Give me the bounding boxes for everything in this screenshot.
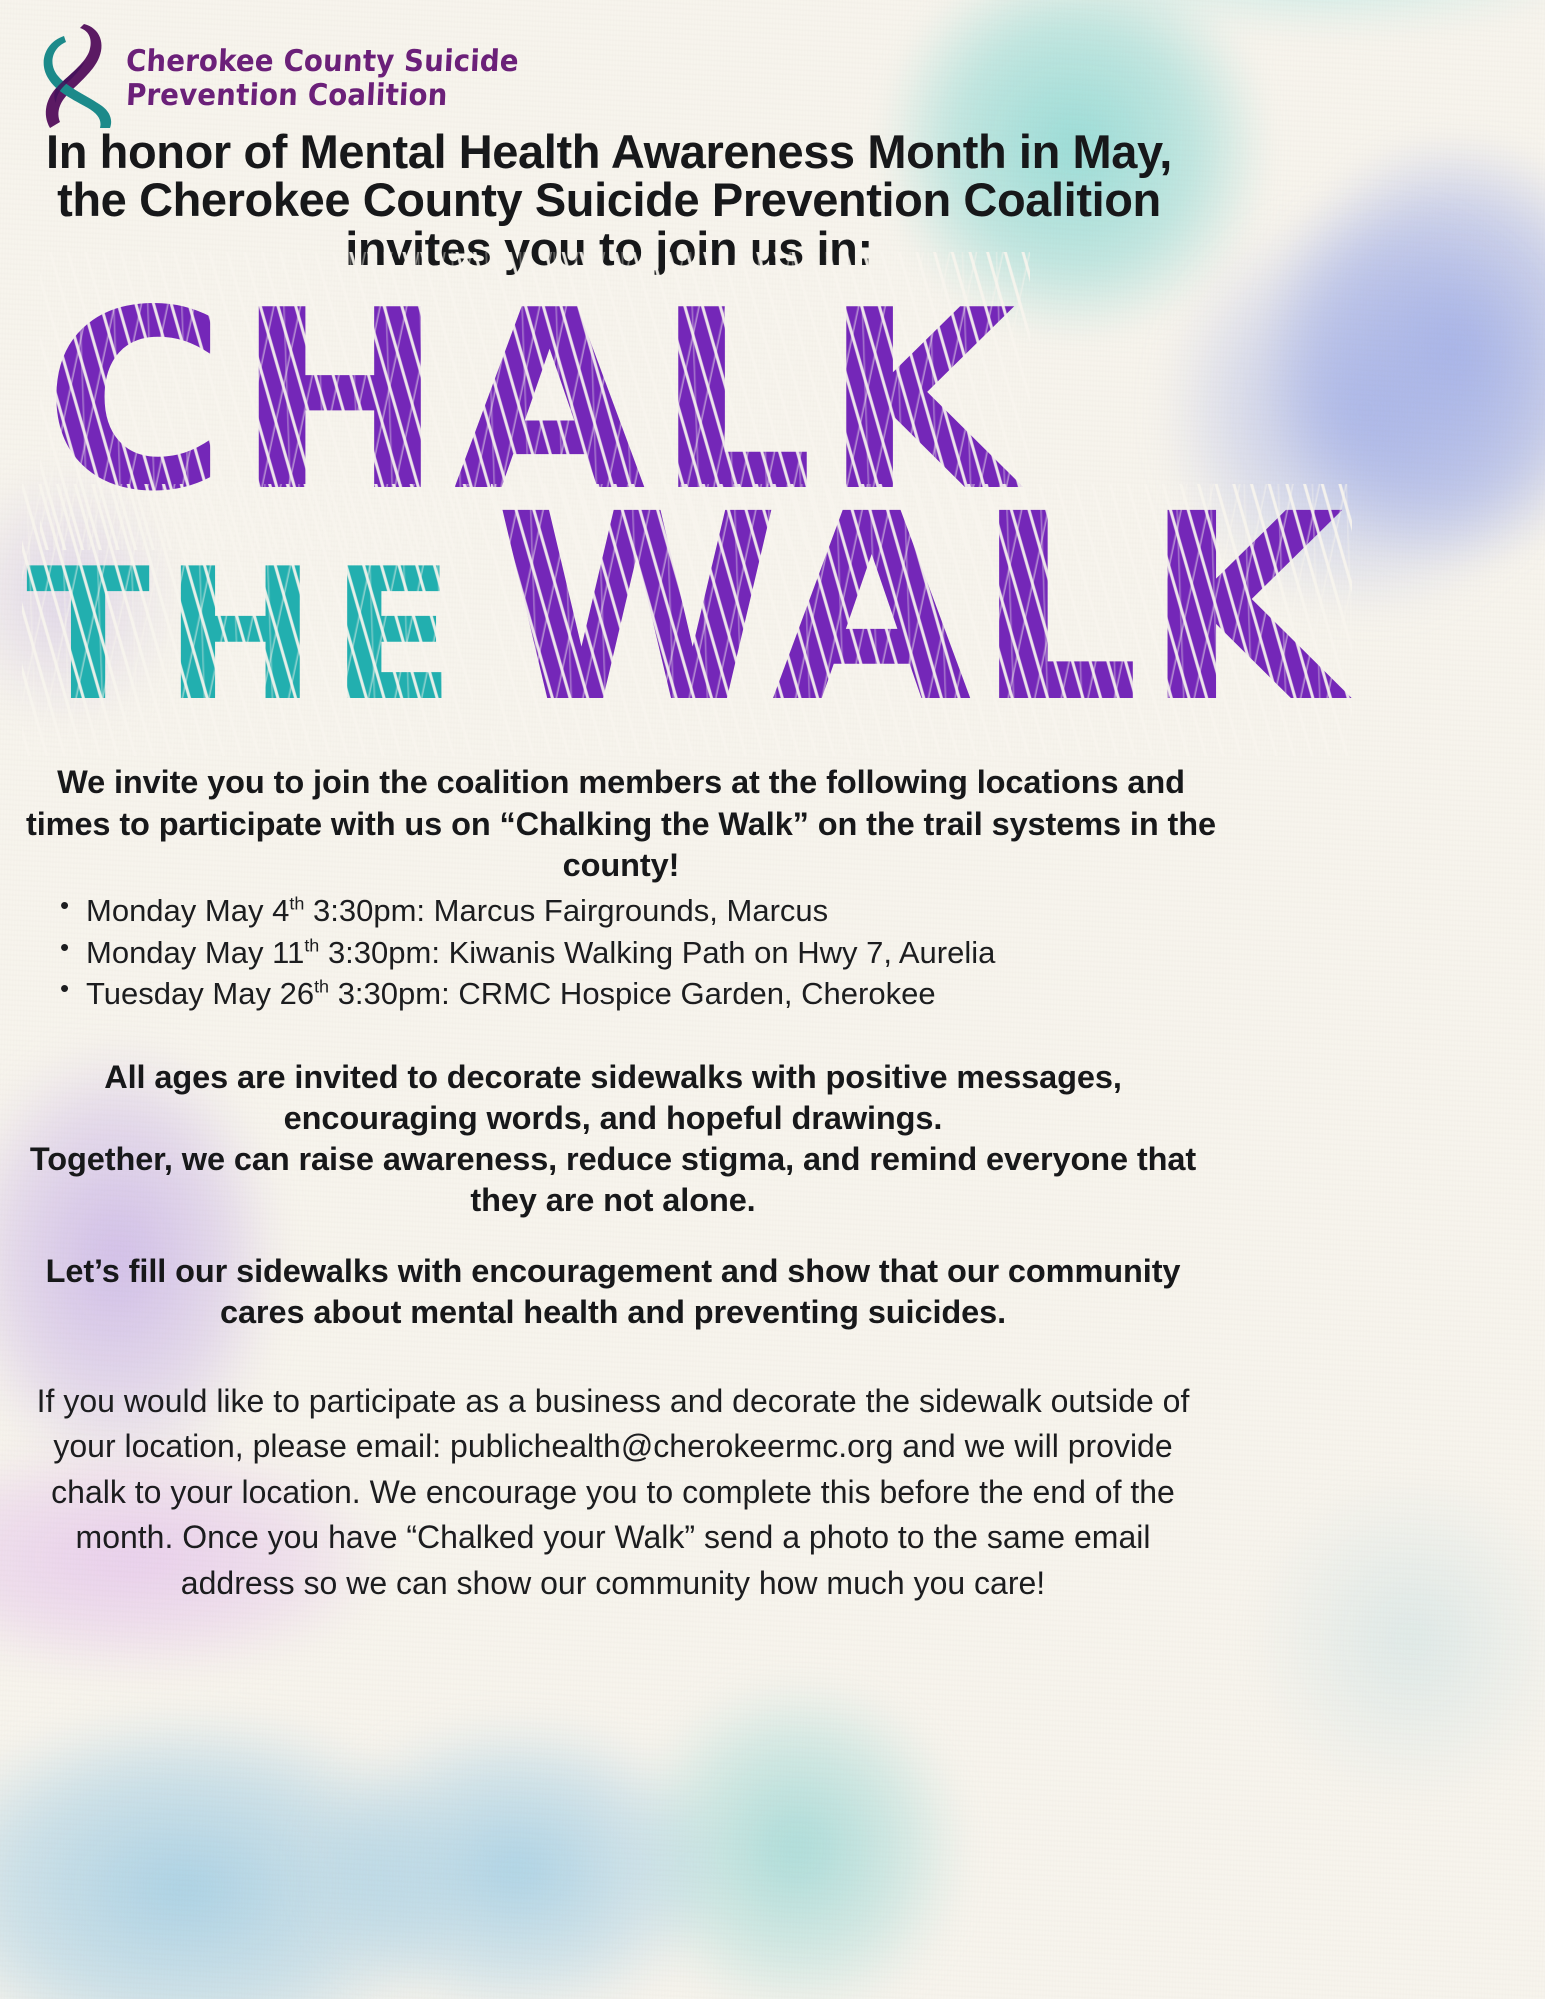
event-day: Tuesday [86,976,204,1011]
invite-paragraph: We invite you to join the coalition memb… [26,762,1216,887]
list-item: Tuesday May 26th 3:30pm: CRMC Hospice Ga… [48,973,1198,1015]
event-day: Monday [86,893,196,928]
watercolor-wash-bottom-right [1205,1429,1545,1849]
event-date: 4 [272,893,289,928]
flyer-poster: Cherokee County Suicide Prevention Coali… [0,0,1545,1999]
event-month: May [212,976,271,1011]
event-list: Monday May 4th 3:30pm: Marcus Fairground… [48,890,1198,1015]
event-month: May [205,935,264,970]
wordmark-walk: WALK [495,504,1348,716]
event-ordinal: th [304,935,319,955]
event-time: 3:30pm [328,935,431,970]
event-ordinal: th [289,894,304,914]
logo-line-1: Cherokee County Suicide [125,47,519,77]
closing-paragraph: If you would like to participate as a bu… [18,1379,1208,1606]
event-day: Monday [86,935,196,970]
headline: In honor of Mental Health Awareness Mont… [14,128,1204,273]
event-location: Kiwanis Walking Path on Hwy 7, Aurelia [449,935,996,970]
event-ordinal: th [314,977,329,997]
chalk-the-walk-wordmark: CHALK THEWALK [0,258,1545,750]
event-time: 3:30pm [338,976,441,1011]
paragraph-lets-fill: Let’s fill our sidewalks with encouragem… [18,1251,1208,1333]
watercolor-wash-bottom-mid [250,1639,1010,1999]
coalition-logo: Cherokee County Suicide Prevention Coali… [40,18,553,130]
wordmark-the: THE [26,561,469,710]
list-item: Monday May 11th 3:30pm: Kiwanis Walking … [48,932,1198,974]
wordmark-line-the-walk: THEWALK [0,490,1545,750]
event-location: Marcus Fairgrounds, Marcus [434,893,829,928]
awareness-ribbon-icon [40,18,118,130]
event-time: 3:30pm [313,893,416,928]
event-location: CRMC Hospice Garden, Cherokee [458,976,935,1011]
logo-line-2: Prevention Coalition [125,81,519,111]
event-month: May [205,893,264,928]
event-date: 26 [280,976,314,1011]
event-date: 11 [272,935,304,970]
paragraph-all-ages: All ages are invited to decorate sidewal… [18,1057,1208,1221]
list-item: Monday May 4th 3:30pm: Marcus Fairground… [48,890,1198,932]
